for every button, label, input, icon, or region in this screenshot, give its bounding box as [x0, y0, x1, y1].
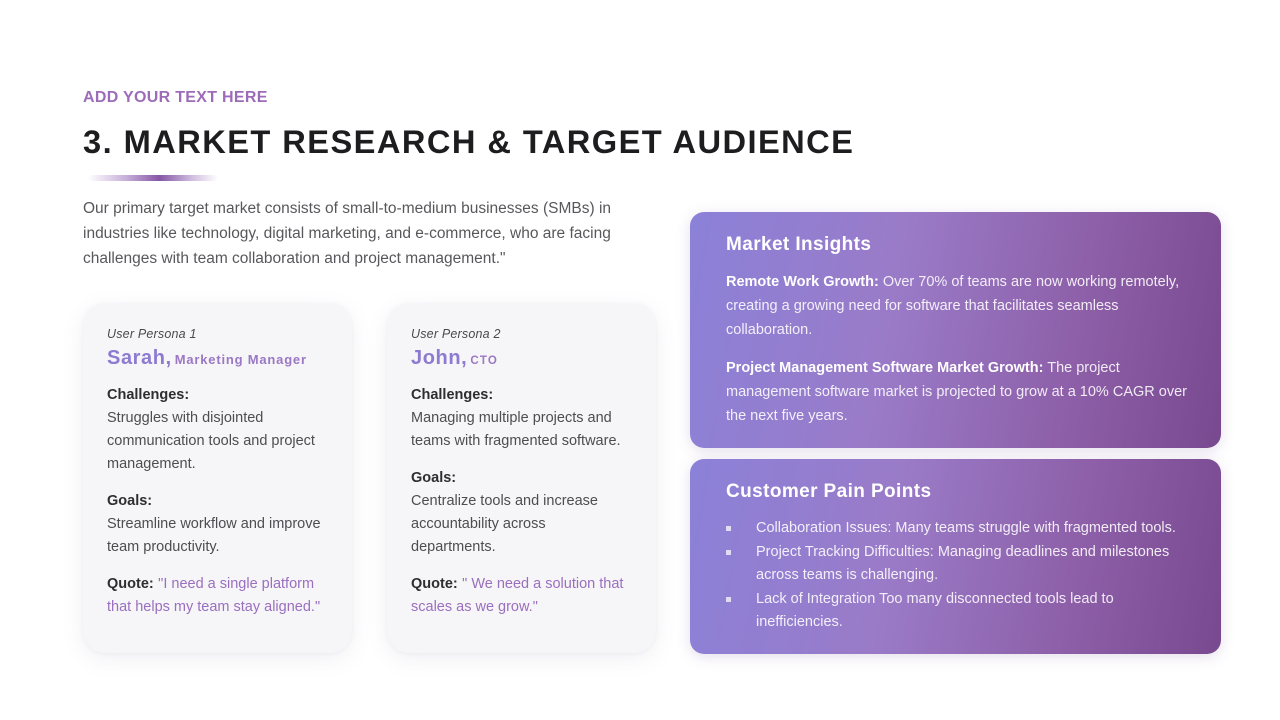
persona-card: User Persona 2 John,CTO Challenges: Mana…: [387, 303, 656, 653]
goals-text: Centralize tools and increase accountabi…: [411, 493, 598, 555]
list-item: Lack of Integration Too many disconnecte…: [726, 588, 1193, 634]
market-insight-item: Project Management Software Market Growt…: [726, 356, 1193, 428]
persona-name-row: John,CTO: [411, 347, 632, 370]
goals-label: Goals:: [411, 470, 456, 486]
challenges-text: Managing multiple projects and teams wit…: [411, 410, 621, 449]
bullet-square-icon: [726, 526, 731, 531]
list-item-text: Collaboration Issues: Many teams struggl…: [756, 520, 1176, 536]
goals-label: Goals:: [107, 493, 152, 509]
insight-label: Remote Work Growth:: [726, 274, 879, 290]
list-item: Project Tracking Difficulties: Managing …: [726, 541, 1193, 587]
persona-goals-block: Goals: Centralize tools and increase acc…: [411, 467, 632, 559]
persona-role: Marketing Manager: [175, 352, 307, 367]
persona-eyebrow: User Persona 2: [411, 327, 632, 341]
quote-label: Quote:: [411, 576, 458, 592]
challenges-label: Challenges:: [107, 387, 189, 403]
intro-paragraph: Our primary target market consists of sm…: [83, 196, 649, 271]
persona-name: Sarah,: [107, 347, 172, 369]
goals-text: Streamline workflow and improve team pro…: [107, 516, 321, 555]
market-insights-panel: Market Insights Remote Work Growth: Over…: [690, 212, 1221, 448]
section-eyebrow: ADD YOUR TEXT HERE: [83, 89, 268, 107]
persona-goals-block: Goals: Streamline workflow and improve t…: [107, 490, 328, 559]
challenges-label: Challenges:: [411, 387, 493, 403]
customer-pain-points-title: Customer Pain Points: [726, 481, 1193, 503]
quote-label: Quote:: [107, 576, 154, 592]
insight-label: Project Management Software Market Growt…: [726, 360, 1043, 376]
bullet-square-icon: [726, 597, 731, 602]
persona-quote-block: Quote: " We need a solution that scales …: [411, 573, 632, 619]
list-item-text: Lack of Integration Too many disconnecte…: [756, 591, 1114, 630]
persona-challenges-block: Challenges: Struggles with disjointed co…: [107, 384, 328, 476]
bullet-square-icon: [726, 550, 731, 555]
pain-points-list: Collaboration Issues: Many teams struggl…: [726, 517, 1193, 634]
persona-role: CTO: [470, 355, 498, 367]
customer-pain-points-panel: Customer Pain Points Collaboration Issue…: [690, 459, 1221, 654]
page-title: 3. MARKET RESEARCH & TARGET AUDIENCE: [83, 124, 854, 161]
persona-eyebrow: User Persona 1: [107, 327, 328, 341]
challenges-text: Struggles with disjointed communication …: [107, 410, 315, 472]
market-insight-item: Remote Work Growth: Over 70% of teams ar…: [726, 270, 1193, 342]
list-item: Collaboration Issues: Many teams struggl…: [726, 517, 1193, 540]
persona-challenges-block: Challenges: Managing multiple projects a…: [411, 384, 632, 453]
persona-quote-block: Quote: "I need a single platform that he…: [107, 573, 328, 619]
list-item-text: Project Tracking Difficulties: Managing …: [756, 544, 1169, 583]
persona-card: User Persona 1 Sarah,Marketing Manager C…: [83, 303, 352, 653]
market-insights-title: Market Insights: [726, 234, 1193, 256]
persona-name: John,: [411, 347, 467, 369]
persona-name-row: Sarah,Marketing Manager: [107, 347, 328, 370]
title-underline-accent: [88, 175, 218, 181]
